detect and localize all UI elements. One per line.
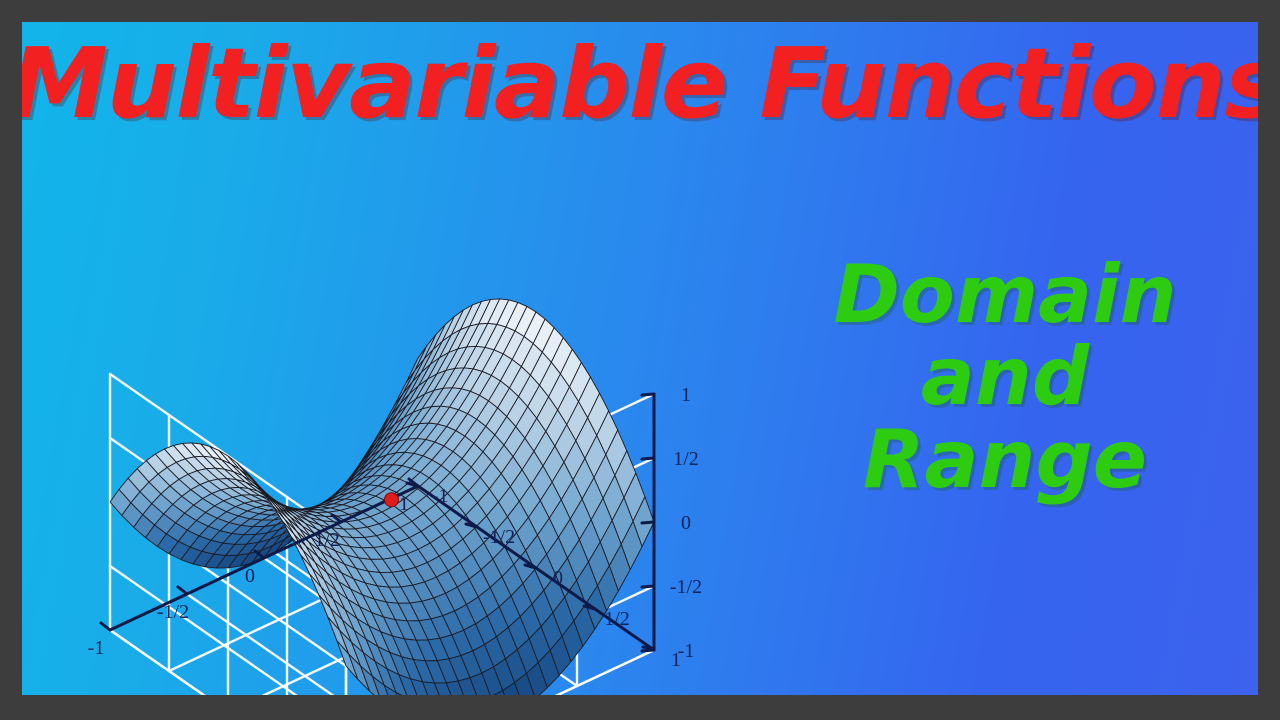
axis-tick-label: -1/2: [157, 601, 189, 623]
axis-tick-label: 0: [245, 565, 255, 587]
slide-root: Multivariable Functions Domain and Range…: [0, 0, 1280, 720]
axis-tick-label: -1: [678, 640, 695, 662]
axis-tick-label: -1: [88, 637, 105, 659]
slide-canvas: Multivariable Functions Domain and Range…: [22, 22, 1258, 695]
highlighted-point-marker: [385, 493, 399, 507]
axis-tick-label: 1/2: [673, 448, 699, 470]
subtitle-line-3: Range: [770, 419, 1240, 501]
surface-plot: -1-1/201/21-1-1/201/21-1-1/201/21: [82, 152, 782, 695]
axis-tick-label: 0: [681, 512, 691, 534]
axis-tick-label: -1/2: [483, 526, 515, 548]
subtitle-line-2: and: [770, 336, 1240, 418]
axis-tick-label: -1: [432, 485, 449, 507]
surface-mesh: [110, 299, 654, 695]
subtitle-block: Domain and Range: [770, 254, 1240, 501]
axis-tick-label: 0: [553, 567, 563, 589]
axis-tick-label: -1/2: [670, 576, 702, 598]
axis-tick-label: 1/2: [604, 608, 630, 630]
axis-tick-label: 1/2: [314, 529, 340, 551]
page-title: Multivariable Functions: [22, 28, 1258, 140]
axis-tick-label: 1: [681, 384, 691, 406]
subtitle-line-1: Domain: [770, 254, 1240, 336]
axis-tick-label: 1: [399, 493, 409, 515]
